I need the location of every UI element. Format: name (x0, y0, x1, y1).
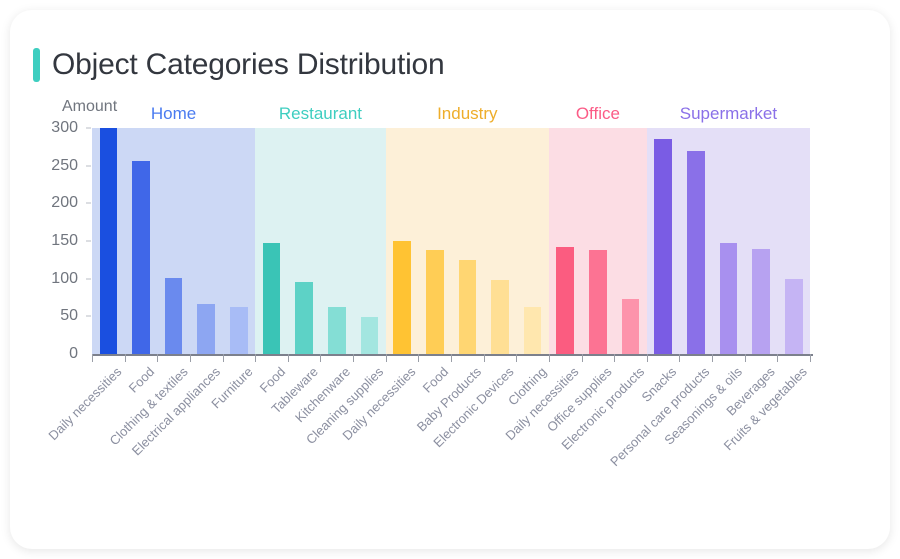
x-tick-mark (810, 354, 811, 362)
bar[interactable] (197, 304, 215, 354)
y-tick-label: 100 (51, 270, 78, 288)
x-tick-mark (386, 354, 387, 362)
bar-cell[interactable] (157, 128, 190, 354)
bar[interactable] (589, 250, 607, 354)
bar-cell[interactable] (418, 128, 451, 354)
y-tick-mark (86, 241, 91, 242)
bar[interactable] (459, 260, 477, 354)
x-tick-mark (582, 354, 583, 362)
bar-cell[interactable] (679, 128, 712, 354)
group-label: Restaurant (255, 104, 386, 124)
y-axis: 050100150200250300 (10, 128, 86, 354)
bar-cell[interactable] (777, 128, 810, 354)
x-axis-line (92, 354, 813, 356)
y-tick-mark (86, 128, 91, 129)
bar-cell[interactable] (549, 128, 582, 354)
x-tick-mark (549, 354, 550, 362)
bar[interactable] (295, 282, 313, 354)
y-tick-mark (86, 316, 91, 317)
bar[interactable] (491, 280, 509, 354)
bar-group (386, 128, 549, 354)
group-band-industry: Industry (386, 128, 549, 354)
x-tick-mark (190, 354, 191, 362)
bar[interactable] (328, 307, 346, 354)
chart-header: Object Categories Distribution (33, 48, 445, 82)
bar-group (647, 128, 810, 354)
group-label: Office (549, 104, 647, 124)
chart-card: Object Categories Distribution Amount 05… (10, 10, 890, 549)
group-band-supermarket: Supermarket (647, 128, 810, 354)
bar-cell[interactable] (125, 128, 158, 354)
x-tick-mark (418, 354, 419, 362)
bar[interactable] (524, 307, 542, 354)
x-tick-mark (320, 354, 321, 362)
page-title: Object Categories Distribution (52, 48, 445, 82)
y-tick-label: 50 (60, 307, 78, 325)
bar[interactable] (687, 151, 705, 354)
group-band-office: Office (549, 128, 647, 354)
group-bands: HomeRestaurantIndustryOfficeSupermarket (92, 128, 810, 354)
bar-cell[interactable] (647, 128, 680, 354)
y-tick-label: 150 (51, 232, 78, 250)
bar-group (549, 128, 647, 354)
group-band-home: Home (92, 128, 255, 354)
x-tick-mark (516, 354, 517, 362)
bar-group (92, 128, 255, 354)
x-tick-mark (712, 354, 713, 362)
y-tick-mark (86, 203, 91, 204)
x-tick-mark (777, 354, 778, 362)
bar-cell[interactable] (712, 128, 745, 354)
bar-cell[interactable] (288, 128, 321, 354)
bar[interactable] (785, 279, 803, 354)
bar[interactable] (230, 307, 248, 354)
x-tick-mark (92, 354, 93, 362)
bar[interactable] (426, 250, 444, 354)
bar[interactable] (263, 243, 281, 354)
y-tick-label: 200 (51, 194, 78, 212)
x-tick-mark (451, 354, 452, 362)
x-tick-mark (484, 354, 485, 362)
bar[interactable] (393, 241, 411, 354)
y-tick-mark (86, 165, 91, 166)
x-tick-mark (223, 354, 224, 362)
group-label: Industry (386, 104, 549, 124)
bar-cell[interactable] (223, 128, 256, 354)
y-tick-label: 250 (51, 157, 78, 175)
bar-cell[interactable] (582, 128, 615, 354)
y-tick-label: 0 (69, 345, 78, 363)
bar-cell[interactable] (386, 128, 419, 354)
x-tick-mark (157, 354, 158, 362)
bar[interactable] (654, 139, 672, 354)
plot-area: HomeRestaurantIndustryOfficeSupermarket (92, 128, 810, 354)
x-tick-mark (679, 354, 680, 362)
y-tick-mark (86, 278, 91, 279)
bar-cell[interactable] (92, 128, 125, 354)
bar[interactable] (556, 247, 574, 354)
group-label: Home (92, 104, 255, 124)
y-tick-label: 300 (51, 119, 78, 137)
x-tick-mark (745, 354, 746, 362)
bar-cell[interactable] (484, 128, 517, 354)
bar-group (255, 128, 386, 354)
bar[interactable] (132, 161, 150, 354)
bar[interactable] (720, 243, 738, 354)
group-band-restaurant: Restaurant (255, 128, 386, 354)
x-tick-mark (647, 354, 648, 362)
x-tick-mark (353, 354, 354, 362)
bar[interactable] (752, 249, 770, 354)
bar[interactable] (622, 299, 640, 354)
bar-cell[interactable] (614, 128, 647, 354)
x-tick-mark (288, 354, 289, 362)
bar[interactable] (100, 128, 118, 354)
x-tick-mark (125, 354, 126, 362)
bar-cell[interactable] (516, 128, 549, 354)
group-label: Supermarket (647, 104, 810, 124)
bar-cell[interactable] (255, 128, 288, 354)
bar-cell[interactable] (451, 128, 484, 354)
bar[interactable] (361, 317, 379, 354)
bar-cell[interactable] (745, 128, 778, 354)
bar-cell[interactable] (190, 128, 223, 354)
bar[interactable] (165, 278, 183, 354)
bar-cell[interactable] (353, 128, 386, 354)
x-tick-mark (255, 354, 256, 362)
title-accent-bar (33, 48, 40, 82)
bar-cell[interactable] (320, 128, 353, 354)
x-tick-mark (614, 354, 615, 362)
